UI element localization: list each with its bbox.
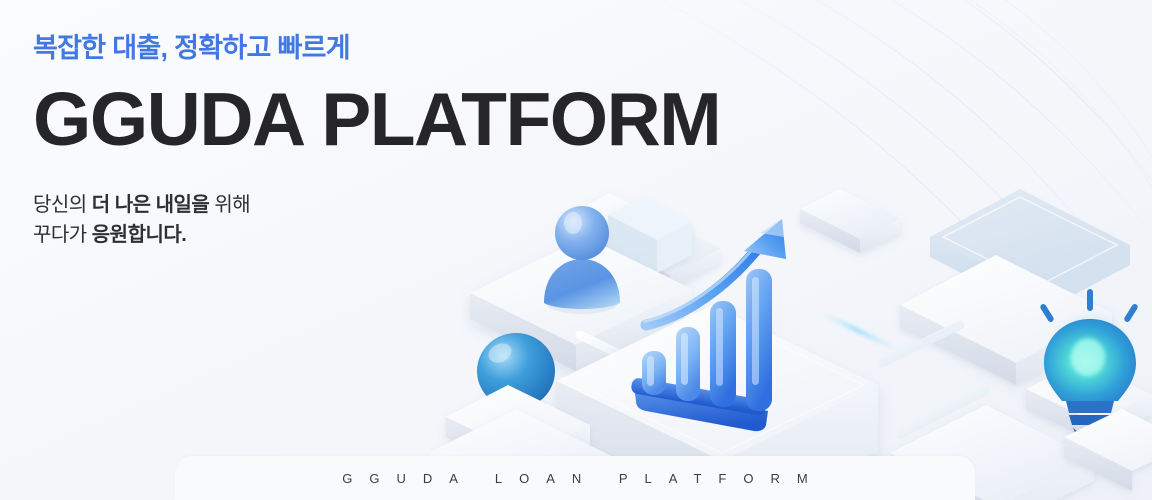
user-icon — [544, 206, 620, 314]
iso-tile-lightbulb — [1026, 361, 1152, 443]
subtitle-text-regular-3: 꾸다가 — [33, 224, 92, 246]
chart-bar-2 — [676, 327, 700, 401]
growth-arrow-icon — [645, 219, 787, 325]
connector-pipes — [548, 313, 986, 451]
iso-tile-user — [470, 237, 692, 371]
subtitle-text-regular-2: 위해 — [209, 194, 250, 216]
bottom-brand-bar: GGUDA LOAN PLATFORM — [175, 456, 975, 500]
page-title: GGUDA PLATFORM — [33, 82, 553, 157]
hero-subtitle-line-1: 당신의 더 나은 내일을 위해 — [33, 191, 553, 220]
chart-bar-4 — [746, 269, 772, 411]
bar-chart-icon — [630, 269, 772, 431]
iso-tile-top-right-small — [800, 189, 900, 253]
speech-bubble-icon — [477, 333, 555, 433]
iso-tile-far-right-front — [1064, 409, 1152, 491]
iso-tile-glass-bar — [930, 189, 1130, 313]
hero-text-block: 복잡한 대출, 정확하고 빠르게 GGUDA PLATFORM 당신의 더 나은… — [33, 32, 553, 250]
hero-banner: 복잡한 대출, 정확하고 빠르게 GGUDA PLATFORM 당신의 더 나은… — [0, 0, 1152, 500]
subtitle-text-regular: 당신의 — [33, 194, 92, 216]
iso-tile-back-left — [560, 193, 720, 289]
bulb-ray-left — [1039, 303, 1055, 323]
chart-bar-3 — [710, 301, 736, 407]
bulb-ray-center — [1087, 289, 1093, 311]
iso-cube-small — [608, 197, 692, 273]
bulb-ray-right — [1123, 303, 1139, 323]
subtitle-text-bold: 더 나은 내일을 — [92, 194, 210, 216]
bottom-brand-text: GGUDA LOAN PLATFORM — [325, 471, 824, 486]
chart-bar-1 — [642, 351, 666, 395]
hero-subtitle: 당신의 더 나은 내일을 위해 꾸다가 응원합니다. — [33, 191, 553, 249]
subtitle-text-bold-2: 응원합니다. — [92, 224, 187, 246]
iso-tile-right-mid — [900, 255, 1112, 385]
hero-subtitle-line-2: 꾸다가 응원합니다. — [33, 221, 553, 250]
lightbulb-icon — [1039, 289, 1139, 439]
hero-tagline: 복잡한 대출, 정확하고 빠르게 — [33, 32, 553, 64]
